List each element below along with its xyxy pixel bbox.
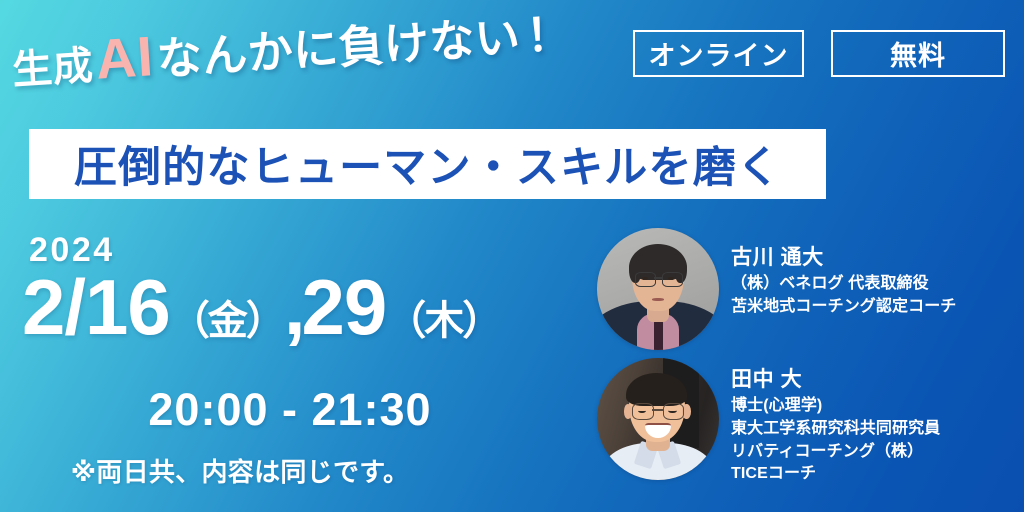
headline-part-post: なんかに負けない xyxy=(155,11,521,85)
speaker-1-avatar xyxy=(597,228,719,350)
event-date: 2/16（金）,29（木） xyxy=(22,268,500,346)
portrait-furukawa xyxy=(597,228,719,350)
event-date-primary: 2/16 xyxy=(22,263,170,351)
badge-online: オンライン xyxy=(633,30,804,77)
badge-free: 無料 xyxy=(831,30,1005,77)
speaker-1-info: 古川 通大 （株）ベネログ 代表取締役 苫米地式コーチング認定コーチ xyxy=(731,228,956,319)
event-note: ※両日共、内容は同じです。 xyxy=(0,452,480,489)
speaker-1-name: 古川 通大 xyxy=(731,244,956,271)
headline-part-pre: 生成 xyxy=(11,44,95,93)
event-time-range: 20:00 - 21:30 xyxy=(0,384,580,436)
title-banner: 圧倒的なヒューマン・スキルを磨く xyxy=(29,129,826,199)
speaker-2-title-line-3: リバティコーチング（株） xyxy=(731,441,940,464)
event-date-separator: , xyxy=(284,263,302,351)
speaker-card-2: 田中 大 博士(心理学) 東大工学系研究科共同研究員 リバティコーチング（株） … xyxy=(597,358,940,486)
speaker-2-avatar xyxy=(597,358,719,480)
headline-part-ai: AI xyxy=(91,24,159,91)
badge-group: オンライン 無料 xyxy=(633,30,1005,77)
event-date-dow-2: （木） xyxy=(386,299,500,343)
speaker-2-name: 田中 大 xyxy=(731,366,940,393)
speaker-1-title-line-1: （株）ベネログ 代表取締役 xyxy=(731,273,956,296)
badge-free-label: 無料 xyxy=(890,34,946,73)
headline-exclamation: ！ xyxy=(519,8,574,62)
event-banner-poster: 生成AIなんかに負けない！ オンライン 無料 圧倒的なヒューマン・スキルを磨く … xyxy=(0,0,1024,512)
speaker-2-title-line-4: TICEコーチ xyxy=(731,463,940,486)
speaker-2-info: 田中 大 博士(心理学) 東大工学系研究科共同研究員 リバティコーチング（株） … xyxy=(731,358,940,486)
title-banner-text: 圧倒的なヒューマン・スキルを磨く xyxy=(74,133,781,195)
event-date-secondary: 29 xyxy=(301,263,386,351)
speaker-2-title-line-2: 東大工学系研究科共同研究員 xyxy=(731,418,940,441)
speaker-1-title-line-2: 苫米地式コーチング認定コーチ xyxy=(731,296,956,319)
speaker-card-1: 古川 通大 （株）ベネログ 代表取締役 苫米地式コーチング認定コーチ xyxy=(597,228,956,350)
portrait-tanaka xyxy=(597,358,719,480)
badge-online-label: オンライン xyxy=(649,34,789,73)
headline: 生成AIなんかに負けない！ xyxy=(10,1,573,95)
event-date-dow-1: （金） xyxy=(170,299,284,343)
speaker-2-title-line-1: 博士(心理学) xyxy=(731,395,940,418)
